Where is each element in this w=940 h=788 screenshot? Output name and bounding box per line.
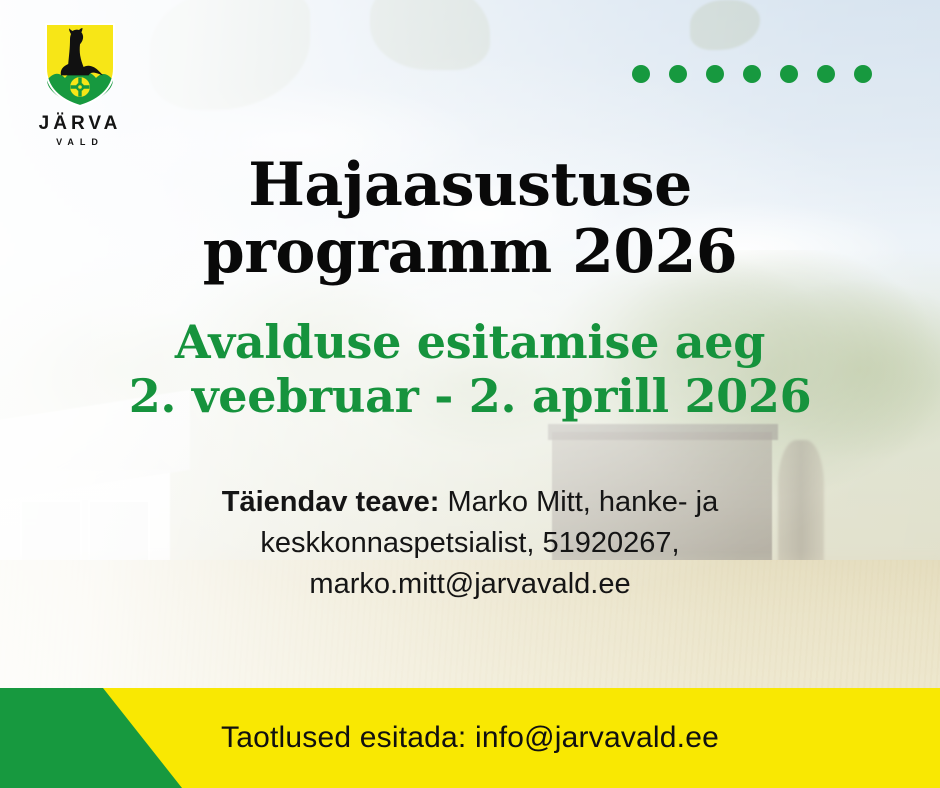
dot-icon: [743, 65, 761, 83]
poster-subtitle: Avalduse esitamise aeg 2. veebruar - 2. …: [60, 316, 880, 424]
poster-canvas: JÄRVA VALD Hajaasustuse programm 2026 Av…: [0, 0, 940, 788]
decorative-dot-row: [632, 65, 872, 83]
logo-name-text: JÄRVA: [30, 114, 130, 133]
contact-info: Täiendav teave: Marko Mitt, hanke- ja ke…: [150, 482, 790, 606]
dot-icon: [632, 65, 650, 83]
poster-title-line2: programm 2026: [110, 219, 830, 286]
dot-icon: [669, 65, 687, 83]
contact-info-label: Täiendav teave:: [222, 486, 440, 518]
bottom-banner: Taotlused esitada: info@jarvavald.ee: [0, 688, 940, 788]
poster-title-line1: Hajaasustuse: [110, 152, 830, 219]
banner-text: Taotlused esitada: info@jarvavald.ee: [0, 688, 940, 788]
dot-icon: [854, 65, 872, 83]
dot-icon: [780, 65, 798, 83]
application-period-dates: 2. veebruar - 2. aprill 2026: [60, 370, 880, 424]
application-period-label: Avalduse esitamise aeg: [60, 316, 880, 370]
dot-icon: [706, 65, 724, 83]
jarva-vald-logo: JÄRVA VALD: [30, 22, 130, 147]
coat-of-arms-icon: [44, 22, 116, 108]
poster-title: Hajaasustuse programm 2026: [110, 152, 830, 286]
dot-icon: [817, 65, 835, 83]
logo-subname-text: VALD: [30, 138, 130, 147]
